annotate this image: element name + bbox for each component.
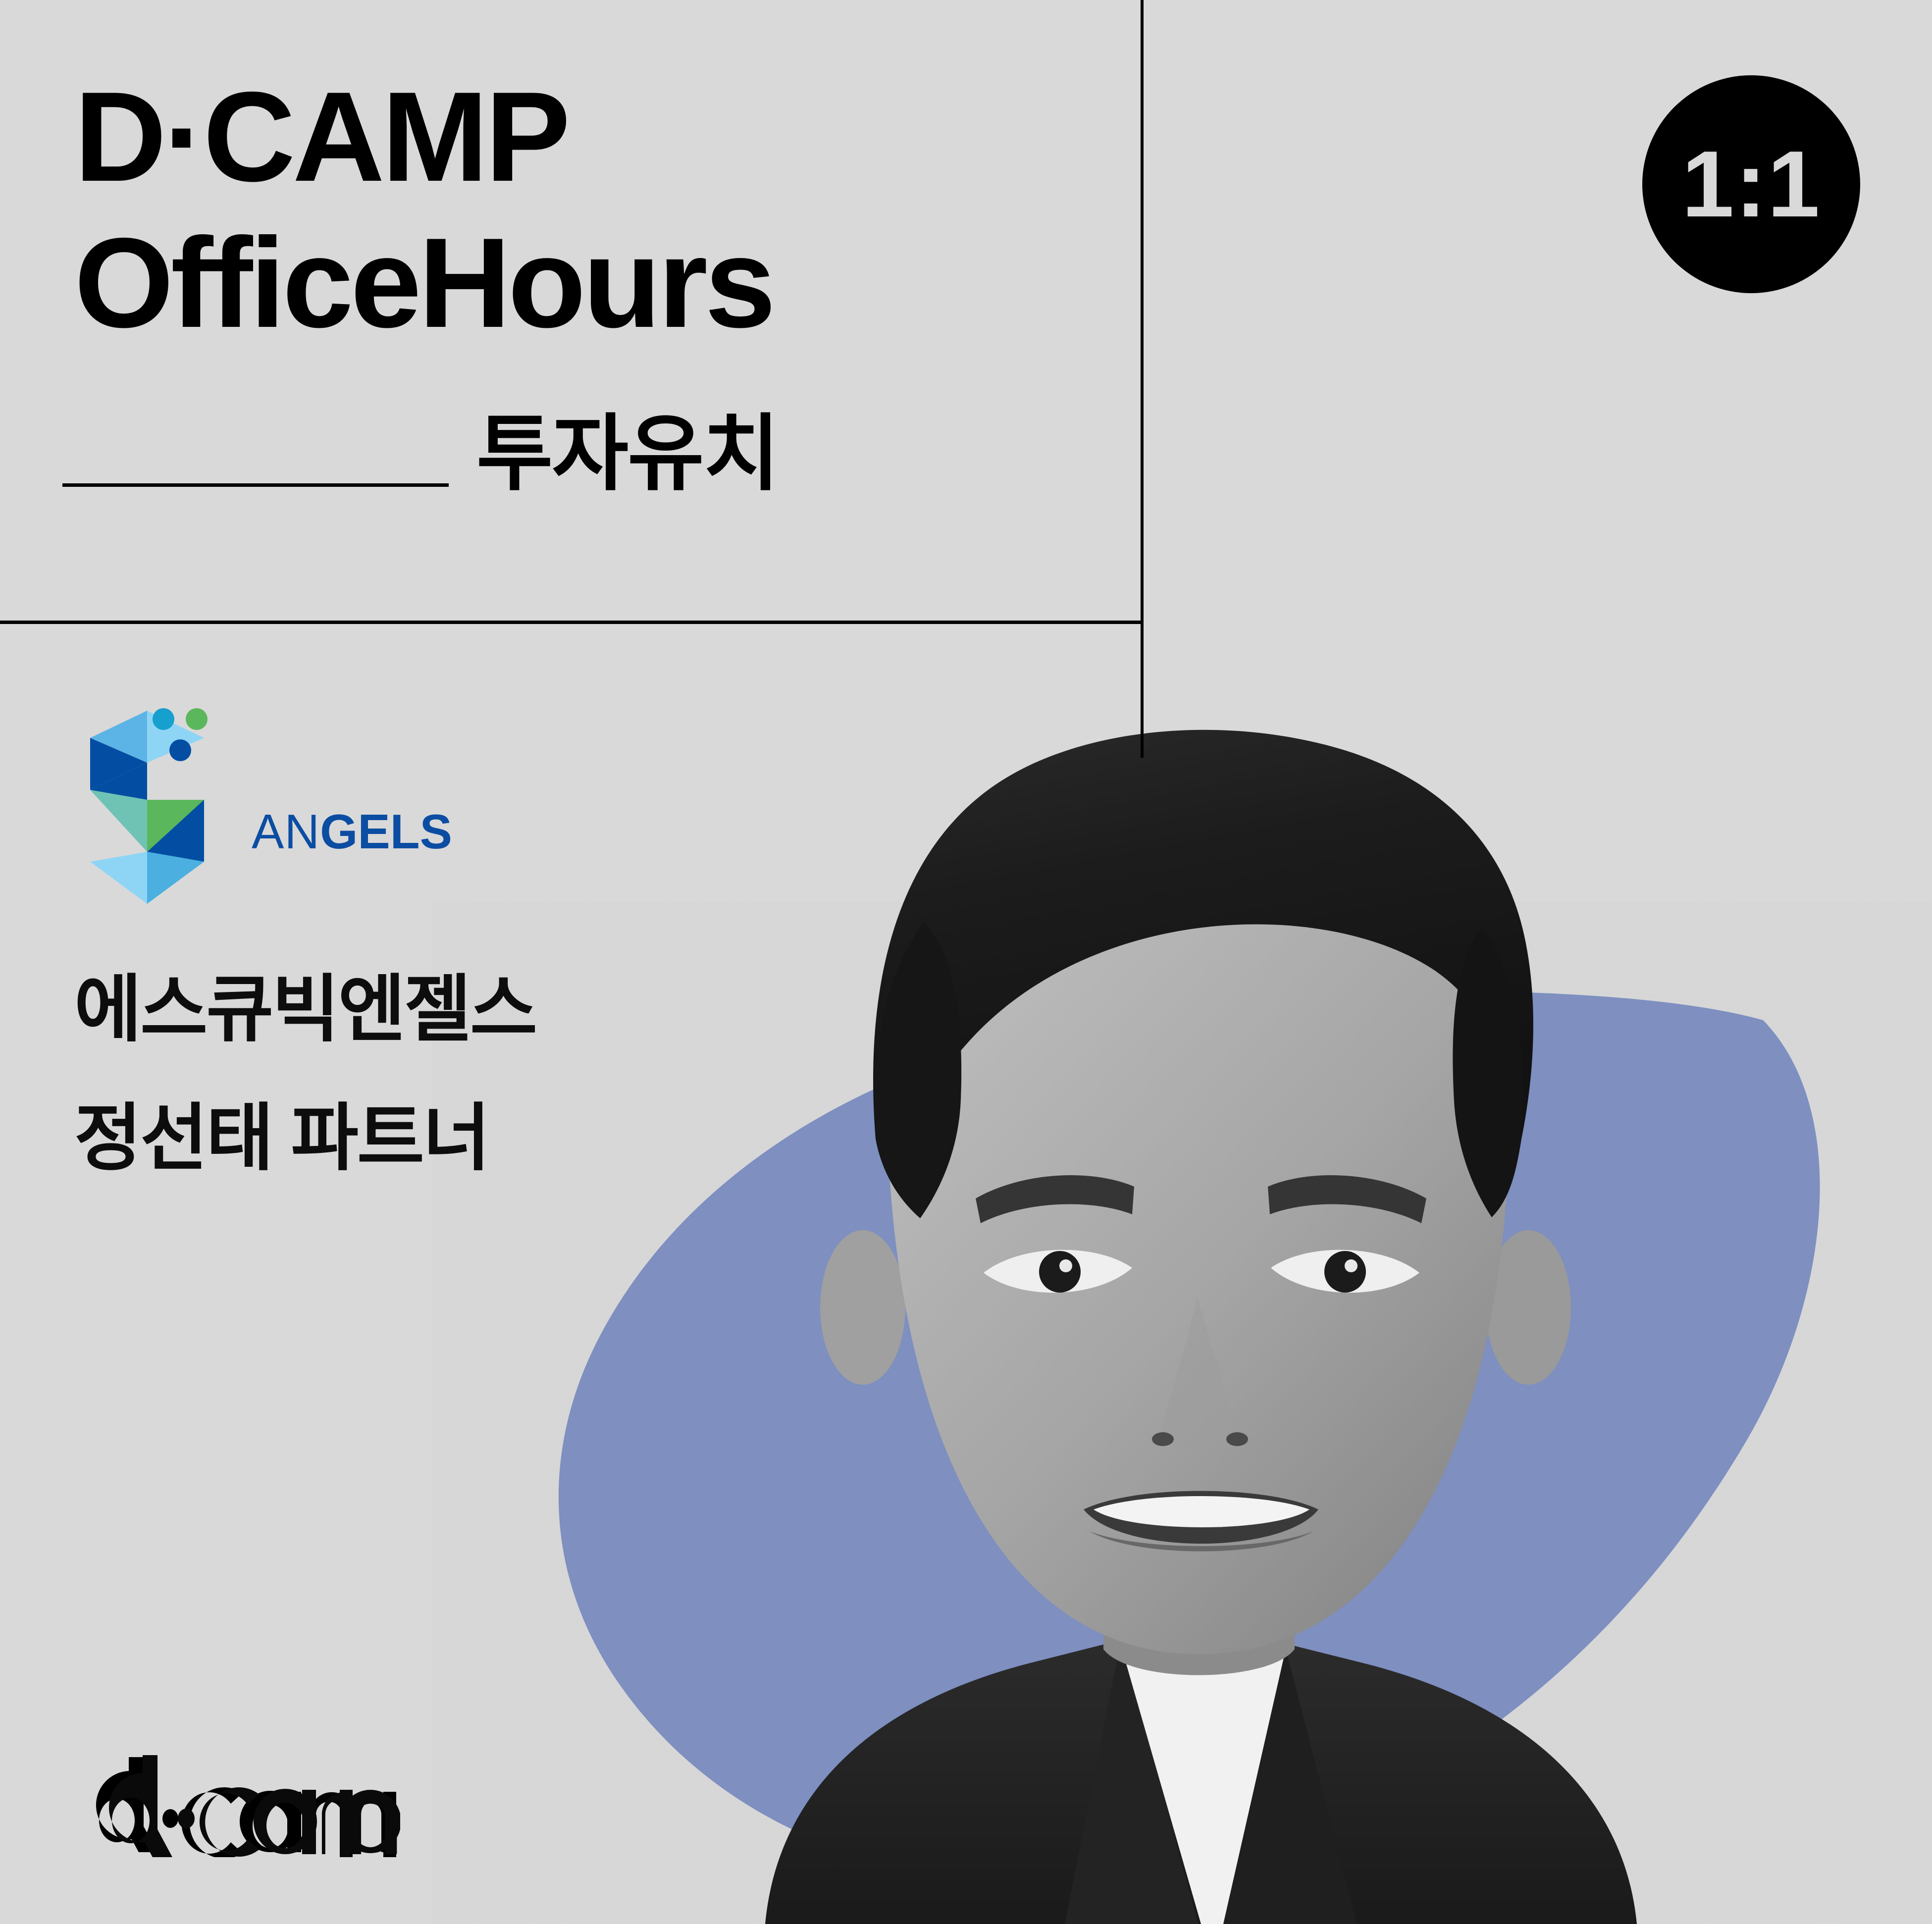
horizontal-divider (0, 621, 1144, 624)
speaker-company: 에스큐빅엔젤스 (74, 973, 536, 1046)
subtitle-row: 투자유치 (62, 412, 779, 495)
badge-label: 1:1 (1682, 137, 1821, 231)
title-line-program: OfficeHours (74, 220, 773, 346)
angels-word-bold: GELS (320, 804, 452, 859)
subtitle-rule (62, 483, 449, 487)
vertical-divider (1141, 0, 1144, 758)
angels-wordmark: ANGELS (252, 807, 452, 856)
page-title: D·CAMP OfficeHours (74, 74, 773, 346)
title-line-brand: D·CAMP (74, 74, 773, 200)
angels-cube-logo-icon (75, 693, 219, 906)
speaker-info: 에스큐빅엔젤스 정선태 파트너 (74, 973, 536, 1175)
subtitle-label: 투자유치 (476, 412, 779, 495)
speaker-portrait-photo (765, 730, 1637, 1924)
angels-word-light: AN (252, 804, 320, 859)
speaker-name-role: 정선태 파트너 (74, 1102, 536, 1175)
poster-canvas: D·CAMP OfficeHours 투자유치 1:1 (0, 0, 1932, 1924)
status-badge: 1:1 (1642, 75, 1860, 293)
angels-logo: ANGELS (75, 693, 452, 906)
dcamp-wordmark-shapes (73, 1753, 400, 1857)
